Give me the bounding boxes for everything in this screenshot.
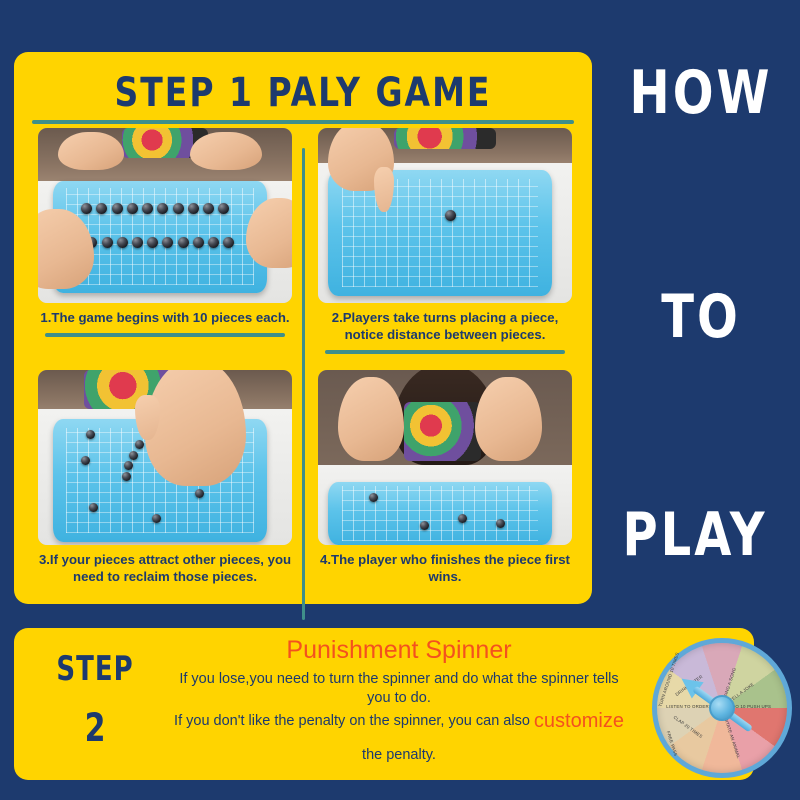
game-ball [89, 503, 98, 512]
step2-text-line-1: If you lose,you need to turn the spinner… [154, 670, 644, 708]
step2-text-line-3: If you don't like the penalty on the spi… [154, 712, 644, 731]
step2-panel: STEP 2 Punishment Spinner If you lose,yo… [14, 628, 754, 780]
title-divider-rule [32, 120, 574, 124]
hand-upper-left [58, 132, 124, 171]
headline-word-how: HOW [606, 58, 796, 128]
game-ball [178, 237, 189, 248]
game-ball [162, 237, 173, 248]
step1-title: STEP 1 PALY GAME [14, 68, 592, 116]
game-ball [147, 237, 158, 248]
game-ball [223, 237, 234, 248]
game-ball [208, 237, 219, 248]
step2-line2-text: you to do. [367, 690, 431, 706]
step2-line1-text: If you lose,you need to turn the spinner… [179, 671, 618, 687]
game-ball [135, 440, 144, 449]
step-cell-3: 3.If your pieces attract other pieces, y… [30, 370, 300, 585]
game-ball [173, 203, 184, 214]
game-ball [152, 514, 161, 523]
game-ball [193, 237, 204, 248]
shirt-pattern [394, 128, 496, 149]
cell-divider-rule [325, 350, 565, 354]
spinner-hub[interactable] [709, 695, 735, 721]
shirt-pattern [404, 402, 480, 462]
step-caption-1: 1.The game begins with 10 pieces each. [30, 309, 300, 326]
customize-highlight: customize [534, 710, 624, 732]
hand-reclaiming-pieces [145, 370, 247, 486]
column-divider-rule [302, 148, 305, 620]
game-ball [112, 203, 123, 214]
game-ball [81, 456, 90, 465]
punishment-spinner-wheel[interactable]: SING A SONG TELL A JOKE DO 10 PUSH UPS D… [652, 638, 792, 778]
board-grid [342, 179, 539, 287]
game-ball [132, 237, 143, 248]
game-ball [122, 472, 131, 481]
step-caption-2: 2.Players take turns placing a piece, no… [310, 309, 580, 343]
step-cell-4: 4.The player who finishes the piece firs… [310, 370, 580, 585]
hand-upper-right [190, 132, 261, 171]
how-to-play-instruction-card: STEP 1 PALY GAME [0, 0, 800, 800]
step-photo-1 [38, 128, 292, 303]
punishment-spinner-title: Punishment Spinner [154, 636, 644, 665]
step-cell-2: 2.Players take turns placing a piece, no… [310, 128, 580, 354]
step-photo-3 [38, 370, 292, 545]
step-photo-2 [318, 128, 572, 303]
headline-word-to: TO [606, 282, 796, 352]
headline-word-play: PLAY [600, 500, 790, 570]
step2-number: 2 [40, 706, 150, 752]
game-board [328, 482, 552, 545]
game-ball [117, 237, 128, 248]
step2-text-line-4: the penalty. [154, 746, 644, 765]
step-caption-4: 4.The player who finishes the piece firs… [310, 551, 580, 585]
game-ball [458, 514, 467, 523]
game-ball [129, 451, 138, 460]
step-cell-1: 1.The game begins with 10 pieces each. [30, 128, 300, 337]
step-photo-4 [318, 370, 572, 545]
step-caption-3: 3.If your pieces attract other pieces, y… [30, 551, 300, 585]
game-ball [420, 521, 429, 530]
game-ball [496, 519, 505, 528]
step1-panel: STEP 1 PALY GAME [14, 52, 592, 604]
game-ball [369, 493, 378, 502]
game-ball [86, 430, 95, 439]
game-ball [102, 237, 113, 248]
step2-line3-prefix: If you don't like the penalty on the spi… [174, 713, 534, 729]
cell-divider-rule [45, 333, 285, 337]
step2-label: STEP [40, 650, 150, 689]
hand-celebrating-right [475, 377, 541, 461]
